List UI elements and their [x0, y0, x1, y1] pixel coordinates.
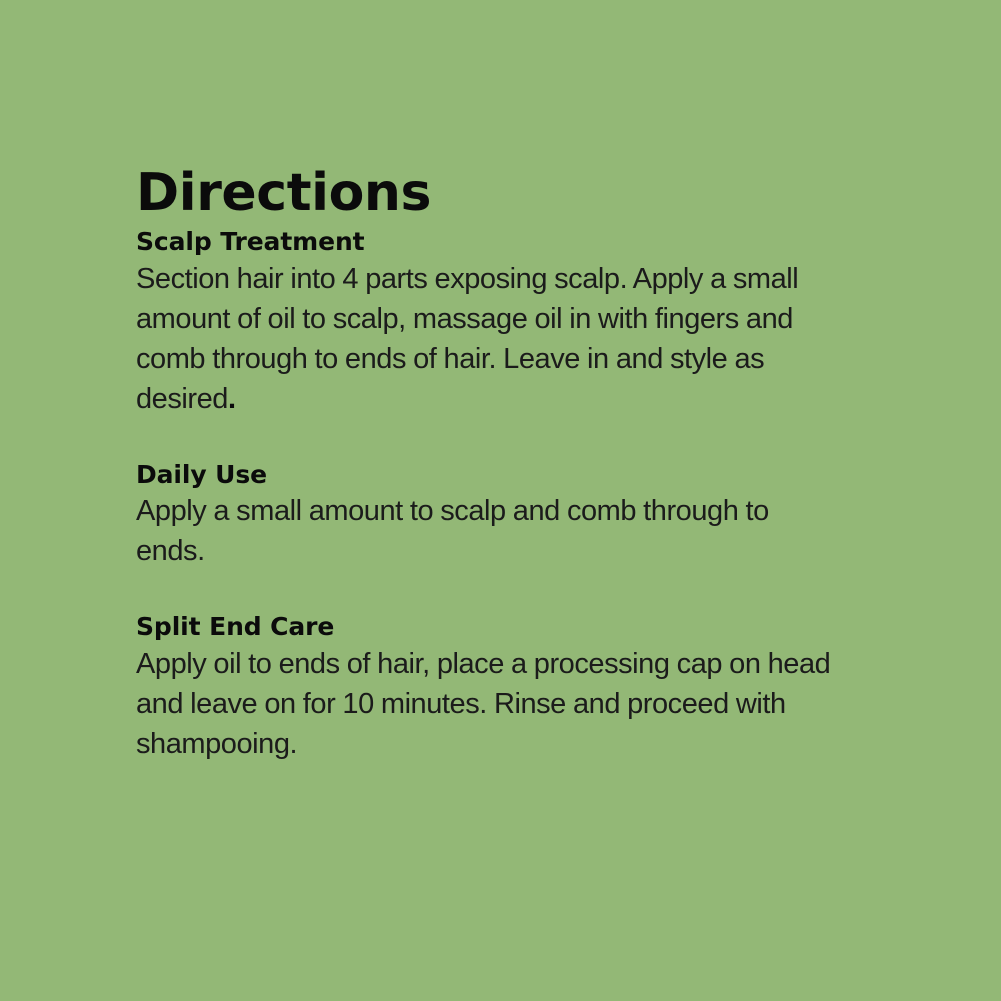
directions-panel: Directions Scalp Treatment Section hair …	[136, 166, 842, 764]
section-heading-daily-use: Daily Use	[136, 460, 842, 491]
section-daily-use: Daily Use Apply a small amount to scalp …	[136, 460, 842, 572]
section-body-split-end-care: Apply oil to ends of hair, place a proce…	[136, 644, 842, 764]
page-title: Directions	[136, 166, 842, 221]
section-heading-scalp-treatment: Scalp Treatment	[136, 227, 842, 258]
section-heading-split-end-care: Split End Care	[136, 612, 842, 643]
section-body-period-scalp-treatment: .	[228, 383, 236, 415]
section-split-end-care: Split End Care Apply oil to ends of hair…	[136, 612, 842, 764]
section-body-scalp-treatment: Section hair into 4 parts exposing scalp…	[136, 259, 842, 419]
section-body-daily-use: Apply a small amount to scalp and comb t…	[136, 491, 842, 571]
section-scalp-treatment: Scalp Treatment Section hair into 4 part…	[136, 227, 842, 419]
